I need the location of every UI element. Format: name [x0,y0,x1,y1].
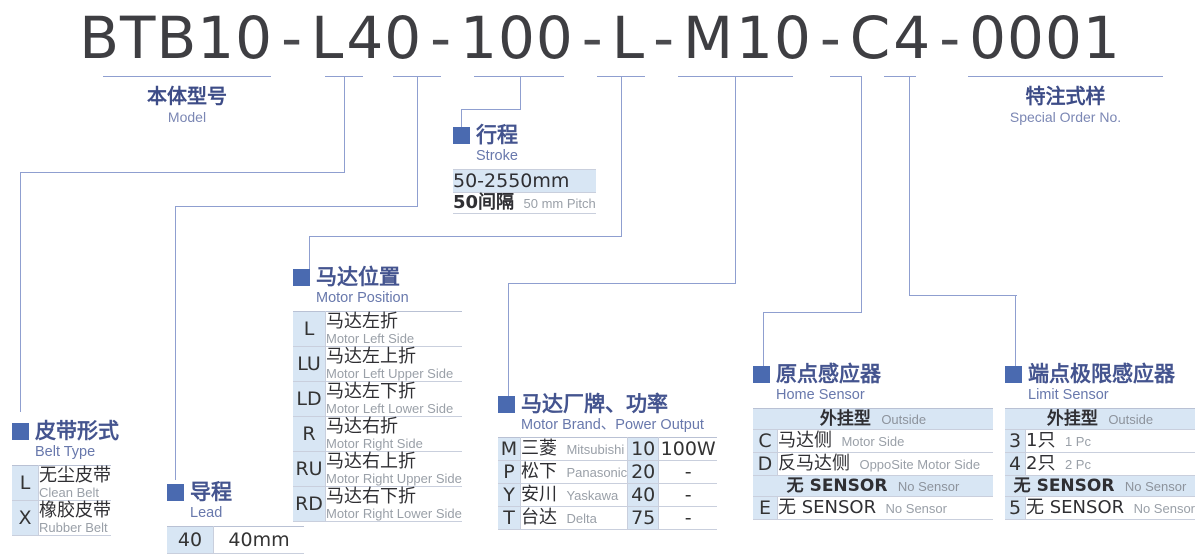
motor-position-desc: 马达左下折 Motor Left Lower Side [326,382,462,417]
leader-motorpos-v2 [309,236,310,270]
leader-lead-v1 [417,76,418,206]
motor-position-desc: 马达右折 Motor Right Side [326,417,462,452]
home-sensor-desc-cn: 马达侧 [778,430,832,451]
section-home-sensor: 原点感应器 Home Sensor 外挂型 Outside C 马达侧 Moto… [753,363,993,520]
motor-brand-desc-cn: 三菱 [521,438,557,459]
power-value: 100W [659,438,718,461]
code-dash-5: - [813,4,849,72]
table-row[interactable]: LU 马达左上折 Motor Left Upper Side [293,347,462,382]
leader-belt-v1 [344,76,345,172]
home-sensor-desc-en: OppoSite Motor Side [859,457,980,472]
motor-brand-desc-en: Delta [566,511,596,526]
table-row[interactable]: T 台达 Delta 75 - [498,507,717,530]
table-row[interactable]: 50间隔 50 mm Pitch [453,193,596,214]
limit-sensor-code: 5 [1005,497,1026,520]
section-lead-en: Lead [190,504,304,522]
table-row[interactable]: L 马达左折 Motor Left Side [293,312,462,347]
home-sensor-band-cn: 外挂型 [820,409,871,429]
motor-brand-desc-cn: 台达 [521,507,557,528]
limit-sensor-desc: 2只 2 Pc [1026,453,1195,476]
motor-position-desc-cn: 马达左折 [326,312,462,332]
limit-sensor-desc-en: 1 Pc [1065,434,1091,449]
section-lead-cn: 导程 [190,481,232,503]
code-segment-stroke: 100 [459,4,575,72]
table-row[interactable]: RD 马达右下折 Motor Right Lower Side [293,487,462,522]
table-row[interactable]: LD 马达左下折 Motor Left Lower Side [293,382,462,417]
leader-limitsensor-h [909,295,1017,296]
limit-sensor-desc: 无 SENSOR No Sensor [1026,497,1195,520]
motor-brand-desc-en: Panasonic [566,465,627,480]
motor-brand-desc: 安川 Yaskawa [521,484,628,507]
motor-brand-desc: 松下 Panasonic [521,461,628,484]
motor-brand-code: P [498,461,521,484]
power-value: - [659,461,718,484]
belt-type-table: L 无尘皮带 Clean Belt X 橡胶皮带 Rubber Belt [12,465,111,536]
power-value: - [659,484,718,507]
motor-position-code: L [293,312,326,347]
power-code: 40 [628,484,659,507]
motor-position-table: L 马达左折 Motor Left Side LU 马达左上折 Motor Le… [293,311,462,522]
motor-brand-desc-cn: 安川 [521,484,557,505]
motor-brand-desc: 三菱 Mitsubishi [521,438,628,461]
section-belt-type-header: 皮带形式 [12,420,119,442]
motor-brand-code: T [498,507,521,530]
underline-stroke [474,76,564,77]
home-sensor-code: E [753,497,778,520]
lead-table: 40 40mm [167,526,304,554]
bullet-square-icon [753,366,770,383]
limit-sensor-band-cn: 外挂型 [1047,409,1098,429]
motor-brand-desc-en: Yaskawa [566,488,618,503]
limit-sensor-code: 4 [1005,453,1026,476]
belt-type-desc-en: Clean Belt [39,486,111,500]
underline-body [103,76,271,77]
limit-sensor-band: 外挂型 Outside [1005,409,1195,430]
section-motor-position-en: Motor Position [316,289,462,307]
lead-code: 40 [167,527,214,554]
stroke-table: 50-2550mm 50间隔 50 mm Pitch [453,169,596,214]
home-sensor-desc: 马达侧 Motor Side [778,430,994,453]
motor-position-desc-cn: 马达左上折 [326,347,462,367]
code-segment-motorpos: L [611,4,646,72]
label-model-en: Model [103,108,271,126]
table-row[interactable]: L 无尘皮带 Clean Belt [12,466,111,501]
motor-position-desc-en: Motor Left Lower Side [326,402,462,416]
code-segment-motorbrand: M [682,4,735,72]
table-row: 无 SENSOR No Sensor [753,476,993,497]
table-row[interactable]: 5 无 SENSOR No Sensor [1005,497,1195,520]
limit-sensor-desc-en: 2 Pc [1065,457,1091,472]
section-home-sensor-header: 原点感应器 [753,363,993,385]
leader-homesensor-v2 [763,312,764,368]
motor-position-code: R [293,417,326,452]
leader-motorpos-v1 [621,76,622,236]
home-sensor-band-cn: 无 SENSOR [787,476,888,496]
model-code-row: BTB10 - L 40 - 100 - L - M 10 - C 4 - 00… [0,6,1200,70]
stroke-pitch-cn: 50间隔 [453,192,514,213]
limit-sensor-band-en: Outside [1108,412,1153,427]
section-motor-position-cn: 马达位置 [316,266,400,288]
label-model: 本体型号 Model [103,85,271,126]
home-sensor-desc: 反马达侧 OppoSite Motor Side [778,453,994,476]
leader-stroke-h [461,109,521,110]
underline-special [968,76,1163,77]
leader-limitsensor-v1 [909,76,910,295]
leader-belt-v2 [20,172,21,412]
limit-sensor-desc: 1只 1 Pc [1026,430,1195,453]
table-row[interactable]: X 橡胶皮带 Rubber Belt [12,501,111,536]
belt-type-desc: 橡胶皮带 Rubber Belt [39,501,112,536]
limit-sensor-table: 外挂型 Outside 3 1只 1 Pc 4 2只 2 Pc 无 SENSOR… [1005,408,1195,520]
code-segment-power: 10 [735,4,813,72]
table-row[interactable]: R 马达右折 Motor Right Side [293,417,462,452]
home-sensor-table: 外挂型 Outside C 马达侧 Motor Side D 反马达侧 Oppo… [753,408,993,520]
label-special-order: 特注式样 Special Order No. [968,85,1163,126]
leader-limitsensor-v2 [1015,295,1016,368]
home-sensor-band-en: No Sensor [898,479,959,494]
home-sensor-desc: 无 SENSOR No Sensor [778,497,994,520]
power-code: 75 [628,507,659,530]
table-row[interactable]: Y 安川 Yaskawa 40 - [498,484,717,507]
section-limit-sensor-en: Limit Sensor [1028,386,1195,404]
limit-sensor-desc-cn: 无 SENSOR [1026,497,1124,518]
home-sensor-desc-cn: 反马达侧 [778,453,850,474]
motor-brand-desc-cn: 松下 [521,461,557,482]
home-sensor-desc-cn: 无 SENSOR [778,497,876,518]
code-segment-homesensor: C [849,4,893,72]
section-motor-position: 马达位置 Motor Position L 马达左折 Motor Left Si… [293,266,462,522]
limit-sensor-desc-en: No Sensor [1134,501,1195,516]
section-home-sensor-en: Home Sensor [776,386,993,404]
belt-type-desc: 无尘皮带 Clean Belt [39,466,112,501]
leader-motorpos-h [309,236,622,237]
code-segment-belt: L [310,4,345,72]
motor-position-desc-en: Motor Right Upper Side [326,472,462,486]
motor-position-code: LU [293,347,326,382]
belt-type-desc-cn: 无尘皮带 [39,466,111,486]
table-row[interactable]: 4 2只 2 Pc [1005,453,1195,476]
motor-position-desc-en: Motor Right Lower Side [326,507,462,521]
section-belt-type-cn: 皮带形式 [35,420,119,442]
limit-sensor-desc-cn: 1只 [1026,430,1055,451]
power-value: - [659,507,718,530]
bullet-square-icon [453,127,470,144]
table-row[interactable]: M 三菱 Mitsubishi 10 100W [498,438,717,461]
bullet-square-icon [167,484,184,501]
section-motor-brand-cn: 马达厂牌、功率 [521,393,668,415]
leader-lead-h [175,206,418,207]
motor-brand-table: M 三菱 Mitsubishi 10 100W P 松下 Panasonic 2… [498,437,717,530]
lead-value: 40mm [214,527,305,554]
motor-brand-desc-en: Mitsubishi [566,442,624,457]
limit-sensor-band-cn: 无 SENSOR [1014,476,1115,496]
stroke-pitch-en: 50 mm Pitch [524,196,596,211]
motor-position-desc-cn: 马达右上折 [326,452,462,472]
section-stroke-header: 行程 [453,124,596,146]
code-segment-lead: 40 [345,4,423,72]
label-special-order-en: Special Order No. [968,108,1163,126]
code-dash-1: - [274,4,310,72]
leader-lead-v2 [175,206,176,480]
leader-belt-h [20,172,345,173]
bullet-square-icon [12,423,29,440]
home-sensor-band: 外挂型 Outside [753,409,993,430]
table-row[interactable]: 3 1只 1 Pc [1005,430,1195,453]
belt-type-code: X [12,501,39,536]
motor-brand-desc: 台达 Delta [521,507,628,530]
section-limit-sensor-header: 端点极限感应器 [1005,363,1195,385]
motor-position-desc-en: Motor Left Upper Side [326,367,462,381]
code-dash-3: - [575,4,611,72]
section-stroke: 行程 Stroke 50-2550mm 50间隔 50 mm Pitch [453,124,596,214]
leader-motorbrand-v1 [735,76,736,283]
stroke-range: 50-2550mm [453,170,596,193]
power-code: 20 [628,461,659,484]
motor-position-desc: 马达右上折 Motor Right Upper Side [326,452,462,487]
section-stroke-cn: 行程 [476,124,518,146]
home-sensor-band: 无 SENSOR No Sensor [753,476,993,497]
motor-position-desc-cn: 马达右折 [326,417,462,437]
power-code: 10 [628,438,659,461]
code-segment-limitsensor: 4 [892,4,932,72]
code-dash-2: - [423,4,459,72]
table-row: 无 SENSOR No Sensor [1005,476,1195,497]
limit-sensor-band-en: No Sensor [1125,479,1186,494]
section-belt-type: 皮带形式 Belt Type L 无尘皮带 Clean Belt X 橡胶皮带 … [12,420,119,536]
stroke-pitch: 50间隔 50 mm Pitch [453,193,596,214]
motor-position-desc-cn: 马达右下折 [326,487,462,507]
bullet-square-icon [498,396,515,413]
home-sensor-desc-en: No Sensor [886,501,947,516]
table-row[interactable]: RU 马达右上折 Motor Right Upper Side [293,452,462,487]
motor-position-desc: 马达左上折 Motor Left Upper Side [326,347,462,382]
home-sensor-code: C [753,430,778,453]
label-special-order-cn: 特注式样 [968,85,1163,107]
table-row: 外挂型 Outside [753,409,993,430]
section-home-sensor-cn: 原点感应器 [776,363,881,385]
label-model-cn: 本体型号 [103,85,271,107]
limit-sensor-band: 无 SENSOR No Sensor [1005,476,1195,497]
home-sensor-desc-en: Motor Side [841,434,904,449]
section-motor-brand-header: 马达厂牌、功率 [498,393,717,415]
limit-sensor-desc-cn: 2只 [1026,453,1055,474]
motor-position-desc: 马达右下折 Motor Right Lower Side [326,487,462,522]
motor-position-desc-cn: 马达左下折 [326,382,462,402]
leader-homesensor-h [763,312,862,313]
belt-type-desc-en: Rubber Belt [39,521,111,535]
table-row[interactable]: 50-2550mm [453,170,596,193]
motor-brand-code: M [498,438,521,461]
section-lead-header: 导程 [167,481,304,503]
belt-type-desc-cn: 橡胶皮带 [39,501,111,521]
section-lead: 导程 Lead 40 40mm [167,481,304,554]
section-motor-brand-en: Motor Brand、Power Output [521,416,717,434]
table-row[interactable]: C 马达侧 Motor Side [753,430,993,453]
motor-position-desc-en: Motor Right Side [326,437,462,451]
motor-brand-code: Y [498,484,521,507]
bullet-square-icon [1005,366,1022,383]
home-sensor-code: D [753,453,778,476]
table-row: 外挂型 Outside [1005,409,1195,430]
leader-motorbrand-h [508,283,736,284]
leader-homesensor-v1 [861,76,862,312]
section-belt-type-en: Belt Type [35,443,119,461]
table-row[interactable]: D 反马达侧 OppoSite Motor Side [753,453,993,476]
leader-stroke-v1 [520,76,521,109]
table-row[interactable]: 40 40mm [167,527,304,554]
underline-limitsensor [884,76,916,77]
belt-type-code: L [12,466,39,501]
section-motor-brand: 马达厂牌、功率 Motor Brand、Power Output M 三菱 Mi… [498,393,717,530]
code-segment-special: 0001 [968,4,1122,72]
section-limit-sensor: 端点极限感应器 Limit Sensor 外挂型 Outside 3 1只 1 … [1005,363,1195,520]
section-stroke-en: Stroke [476,147,596,165]
motor-position-desc: 马达左折 Motor Left Side [326,312,462,347]
code-dash-6: - [932,4,968,72]
leader-motorbrand-v2 [508,283,509,397]
home-sensor-band-en: Outside [881,412,926,427]
code-dash-4: - [646,4,682,72]
motor-position-desc-en: Motor Left Side [326,332,462,346]
underline-homesensor [830,76,862,77]
section-limit-sensor-cn: 端点极限感应器 [1028,363,1175,385]
section-motor-position-header: 马达位置 [293,266,462,288]
limit-sensor-code: 3 [1005,430,1026,453]
bullet-square-icon [293,269,310,286]
table-row[interactable]: E 无 SENSOR No Sensor [753,497,993,520]
code-segment-body: BTB10 [78,4,274,72]
table-row[interactable]: P 松下 Panasonic 20 - [498,461,717,484]
motor-position-code: LD [293,382,326,417]
